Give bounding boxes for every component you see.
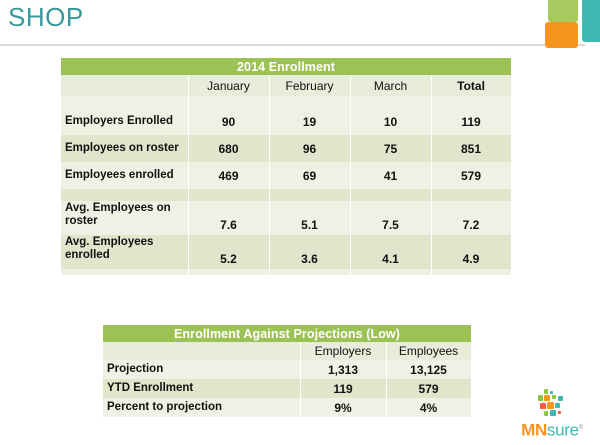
cell-avg-employees-enrolled-february: 3.6	[269, 235, 350, 269]
column-header-blank	[103, 342, 300, 360]
cell-avg-employees-on-roster-march: 7.5	[350, 201, 431, 235]
cell-projection-employers: 1,313	[300, 360, 386, 379]
cell-employees-on-roster-february: 96	[269, 135, 350, 162]
cell-employers-enrolled-january: 90	[188, 108, 269, 135]
cell-employees-enrolled-march: 41	[350, 162, 431, 189]
table-row: Employees enrolled 469 69 41 579	[61, 162, 511, 189]
cell-employees-on-roster-january: 680	[188, 135, 269, 162]
table-footer-row	[61, 269, 511, 275]
table-row: Employers Enrolled 90 19 10 119	[61, 108, 511, 135]
row-label-ytd-enrollment: YTD Enrollment	[103, 379, 300, 398]
row-label-employers-enrolled: Employers Enrolled	[61, 108, 188, 135]
table-header-row: Employers Employees	[103, 342, 471, 360]
wordmark-mn: MN	[521, 421, 547, 440]
row-label-projection: Projection	[103, 360, 300, 379]
wordmark-sure: sure	[547, 421, 579, 440]
cell-avg-employees-on-roster-total: 7.2	[431, 201, 511, 235]
column-header-january: January	[188, 75, 269, 96]
row-label-avg-employees-enrolled: Avg. Employees enrolled	[61, 235, 188, 269]
row-label-employees-enrolled: Employees enrolled	[61, 162, 188, 189]
cell-employees-enrolled-february: 69	[269, 162, 350, 189]
page-title: SHOP	[8, 1, 84, 33]
cell-employers-enrolled-total: 119	[431, 108, 511, 135]
table-spacer-row	[61, 96, 511, 108]
header-divider	[0, 44, 585, 46]
enrollment-table: 2014 Enrollment January February March T…	[61, 58, 511, 275]
row-label-employees-on-roster: Employees on roster	[61, 135, 188, 162]
column-header-employers: Employers	[300, 342, 386, 360]
cell-employees-enrolled-total: 579	[431, 162, 511, 189]
green-square-decoration	[548, 0, 578, 22]
projections-table: Enrollment Against Projections (Low) Emp…	[103, 325, 471, 417]
cell-percent-to-projection-employers: 9%	[300, 398, 386, 417]
cell-employees-enrolled-january: 469	[188, 162, 269, 189]
teal-rectangle-decoration	[582, 0, 600, 42]
cell-avg-employees-enrolled-total: 4.9	[431, 235, 511, 269]
cell-projection-employees: 13,125	[386, 360, 471, 379]
table-row: Avg. Employees on roster 7.6 5.1 7.5 7.2	[61, 201, 511, 235]
cell-avg-employees-enrolled-january: 5.2	[188, 235, 269, 269]
cell-avg-employees-enrolled-march: 4.1	[350, 235, 431, 269]
mnsure-pixel-mark-icon	[531, 389, 573, 419]
column-header-total: Total	[431, 75, 511, 96]
cell-avg-employees-on-roster-february: 5.1	[269, 201, 350, 235]
cell-employers-enrolled-march: 10	[350, 108, 431, 135]
orange-square-decoration	[545, 22, 578, 48]
row-label-avg-employees-on-roster: Avg. Employees on roster	[61, 201, 188, 235]
table-spacer-row	[61, 189, 511, 201]
table-header-row: January February March Total	[61, 75, 511, 96]
table-title-row: Enrollment Against Projections (Low)	[103, 325, 471, 342]
cell-employees-on-roster-total: 851	[431, 135, 511, 162]
column-header-employees: Employees	[386, 342, 471, 360]
row-label-percent-to-projection: Percent to projection	[103, 398, 300, 417]
cell-percent-to-projection-employees: 4%	[386, 398, 471, 417]
table-row: Employees on roster 680 96 75 851	[61, 135, 511, 162]
enrollment-table-title: 2014 Enrollment	[61, 58, 511, 75]
table-row: YTD Enrollment 119 579	[103, 379, 471, 398]
trademark-symbol: ®	[579, 425, 583, 431]
cell-employers-enrolled-february: 19	[269, 108, 350, 135]
table-row: Projection 1,313 13,125	[103, 360, 471, 379]
cell-ytd-enrollment-employees: 579	[386, 379, 471, 398]
cell-avg-employees-on-roster-january: 7.6	[188, 201, 269, 235]
table-row: Avg. Employees enrolled 5.2 3.6 4.1 4.9	[61, 235, 511, 269]
cell-employees-on-roster-march: 75	[350, 135, 431, 162]
column-header-february: February	[269, 75, 350, 96]
column-header-blank	[61, 75, 188, 96]
table-title-row: 2014 Enrollment	[61, 58, 511, 75]
mnsure-wordmark: MNsure®	[508, 418, 596, 441]
mnsure-logo: MNsure®	[508, 389, 596, 441]
table-row: Percent to projection 9% 4%	[103, 398, 471, 417]
projections-table-title: Enrollment Against Projections (Low)	[103, 325, 471, 342]
cell-ytd-enrollment-employers: 119	[300, 379, 386, 398]
column-header-march: March	[350, 75, 431, 96]
